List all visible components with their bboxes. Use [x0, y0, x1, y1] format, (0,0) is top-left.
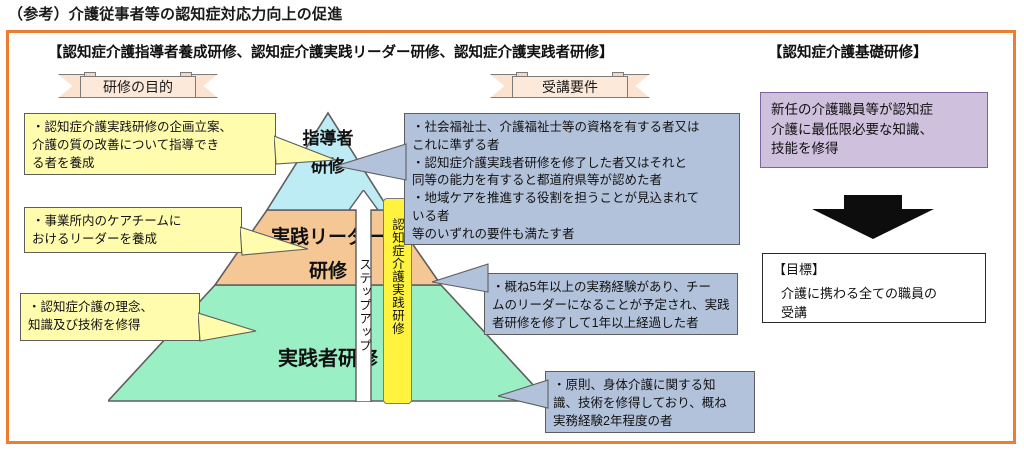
- ribbon-purpose: 研修の目的: [58, 72, 218, 98]
- page-title: （参考）介護従事者等の認知症対応力向上の促進: [8, 3, 342, 24]
- goal-title: 【目標】: [773, 260, 975, 280]
- callout-tail-icon: [274, 130, 338, 166]
- ribbon-purpose-label: 研修の目的: [80, 76, 196, 98]
- callout-tail-icon: [240, 225, 310, 259]
- stepup-label: ステップアップ: [349, 258, 378, 353]
- callout-leader-requirement: ・概ね5年以上の実務経験があり、チー ムのリーダーになることが予定され、実践 者…: [484, 273, 738, 335]
- goal-text: 介護に携わる全ての職員の 受講: [773, 284, 975, 323]
- down-arrow-icon: [812, 195, 934, 239]
- ribbon-requirement-label: 受講要件: [512, 76, 628, 98]
- basic-training-description: 新任の介護職員等が認知症 介護に最低限必要な知識、 技能を修得: [760, 92, 988, 168]
- callout-leader-purpose: ・事業所内のケアチームに おけるリーダーを養成: [24, 207, 242, 253]
- ribbon-requirement: 受講要件: [490, 72, 650, 98]
- left-section-heading: 【認知症介護指導者養成研修、認知症介護実践リーダー研修、認知症介護実践者研修】: [48, 41, 614, 62]
- callout-practitioner-requirement: ・原則、身体介護に関する知 識、技術を修得しており、概ね 実務経験2年程度の者: [545, 371, 755, 433]
- callout-tail-icon: [498, 378, 550, 412]
- goal-box: 【目標】 介護に携わる全ての職員の 受講: [762, 253, 986, 323]
- callout-practitioner-purpose: ・認知症介護の理念、 知識及び技術を修得: [20, 293, 200, 341]
- callout-tail-icon: [198, 311, 258, 345]
- callout-instructor-requirement: ・社会福祉士、介護福祉士等の資格を有する者又は これに準ずる者 ・認知症介護実践…: [404, 113, 740, 245]
- right-section-heading: 【認知症介護基礎研修】: [768, 41, 928, 62]
- callout-tail-icon: [432, 262, 490, 296]
- callout-instructor-purpose: ・認知症介護実践研修の企画立案、 介護の質の改善について指導でき る者を養成: [24, 113, 276, 175]
- callout-tail-icon: [336, 140, 408, 184]
- diagram-page: （参考）介護従事者等の認知症対応力向上の促進 【認知症介護指導者養成研修、認知症…: [0, 0, 1024, 451]
